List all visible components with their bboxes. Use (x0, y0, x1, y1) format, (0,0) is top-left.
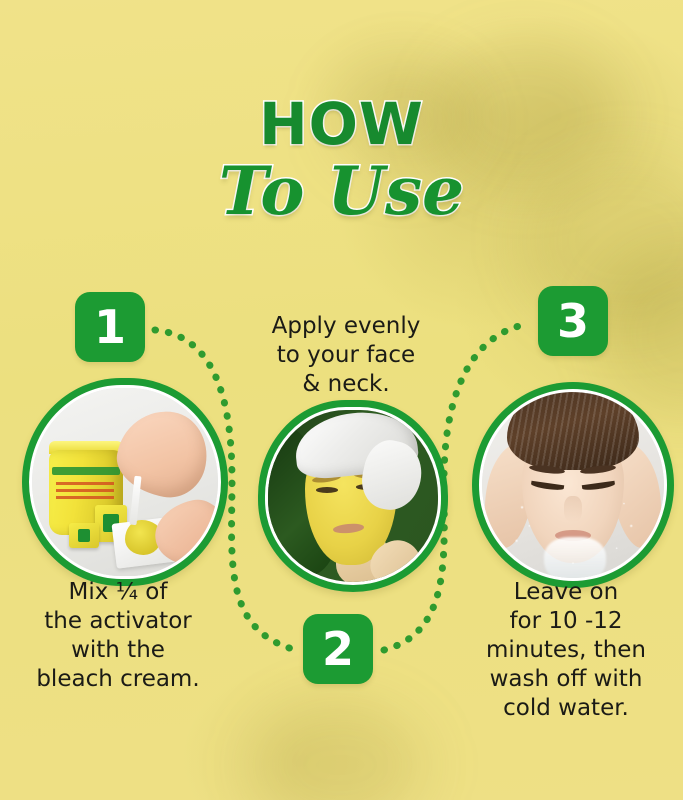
title-line-to-use: To Use (0, 156, 683, 226)
title-line-how: HOW (0, 96, 683, 152)
face-mask-image (268, 410, 438, 582)
step-badge-1: 1 (75, 292, 145, 362)
water-droplets (482, 392, 664, 578)
page-title: HOW To Use (0, 96, 683, 226)
step-3-photo-frame (472, 382, 674, 588)
step-1-caption: Mix ¼ of the activator with the bleach c… (6, 578, 230, 694)
washing-face-image (482, 392, 664, 578)
how-to-use-poster: HOW To Use 1 2 3 (0, 0, 683, 800)
step-3-photo (479, 389, 667, 581)
product-sachet-small (69, 523, 99, 547)
step-badge-3: 3 (538, 286, 608, 356)
step-3-caption: Leave on for 10 -12 minutes, then wash o… (452, 578, 680, 723)
step-1-photo (29, 385, 221, 579)
hand-upper (111, 403, 214, 502)
step-2-caption: Apply evenly to your face & neck. (246, 312, 446, 399)
mixing-cream-image (32, 388, 218, 576)
step-badge-2: 2 (303, 614, 373, 684)
step-1-photo-frame (22, 378, 228, 586)
step-2-photo (265, 407, 441, 585)
step-2-photo-frame (258, 400, 448, 592)
leaf-shadow-blob (250, 700, 430, 800)
